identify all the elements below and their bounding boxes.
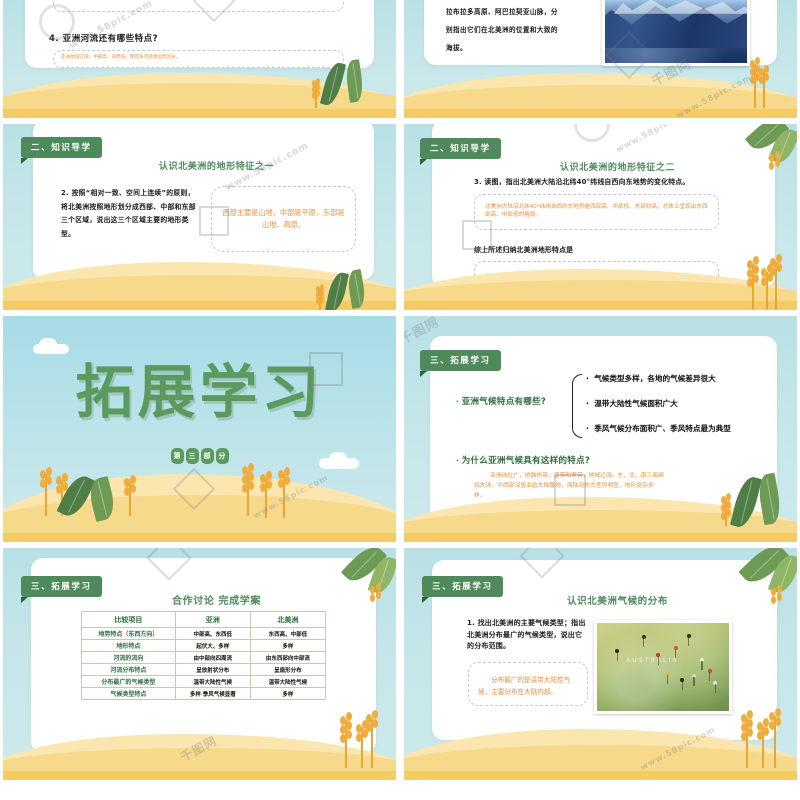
table-header-asia: 亚洲 — [175, 612, 250, 628]
brace-connector — [572, 374, 582, 438]
slide-title: 认识北美洲的地形特征之二 — [464, 160, 771, 173]
row-namerica: 多样 — [250, 688, 325, 700]
section-tag: 二、知识导学 — [420, 138, 501, 159]
description-line-3: 别指出它们在北美洲的位置和大致的 — [446, 24, 558, 34]
section-tag: 三、拓展学习 — [420, 350, 501, 371]
row-namerica: 呈扇形分布 — [250, 664, 325, 676]
slide-thumbnail-4[interactable]: 二、知识导学 认识北美洲的地形特征之二 3. 读图，指出北美洲大陆沿北纬40°纬… — [404, 124, 797, 310]
row-asia: 由中部向四周流 — [175, 652, 250, 664]
row-namerica: 东西高、中部低 — [250, 628, 325, 640]
wheat-decor-top — [367, 582, 389, 618]
description-line-4: 海拔。 — [446, 42, 467, 52]
question-2-text: 为什么亚洲气候具有这样的特点? — [462, 456, 590, 466]
answer-box: 西部主要是山地，中部是平原，东部是山地、高原。 — [211, 186, 356, 252]
comparison-table: 比较项目 亚洲 北美洲 地势特点（东西方向） 中部高、东西低 东西高、中部低 地… — [81, 611, 326, 700]
map-pin — [674, 646, 678, 650]
photo-inner: AUSTRALIA — [597, 623, 729, 711]
bottom-band — [404, 301, 797, 310]
bottom-band — [3, 109, 396, 118]
question-1-text: 亚洲气候特点有哪些? — [462, 397, 546, 407]
answer-text-1: 北美洲大陆沿北纬40°纬线自西向东地势是西部高、中部低、东部较高，总体上呈现出东… — [485, 203, 708, 220]
table-row: 气候类型特点 多样 季风气候显著 多样 — [82, 688, 326, 700]
photo-label: AUSTRALIA — [626, 658, 679, 664]
subtitle-char-1: 第 — [171, 448, 184, 464]
row-label: 河流分布特点 — [82, 664, 176, 676]
slide-thumbnail-7[interactable]: 三、拓展学习 合作讨论 完成学案 比较项目 亚洲 北美洲 地势特点（东西方向） … — [3, 548, 396, 780]
answer-text: 分布最广的是温带大陆性气候，主要分布在大陆内部。 — [478, 675, 578, 699]
bottom-band — [3, 533, 396, 542]
wheat-decor-bottom — [734, 694, 782, 768]
point-1: · 气候类型多样，各地的气候差异很大 — [586, 373, 716, 384]
table-header-namerica: 北美洲 — [250, 612, 325, 628]
subtitle-char-3: 部 — [201, 448, 214, 464]
slide-thumbnail-8[interactable]: 三、拓展学习 认识北美洲气候的分布 1. 找出北美洲的主要气候类型；指出北美洲分… — [404, 548, 797, 780]
description-line-2: 拉布拉多高原、阿巴拉契亚山脉，分 — [446, 6, 558, 16]
row-label: 地势特点（东西方向） — [82, 628, 176, 640]
table-header-row: 比较项目 亚洲 北美洲 — [82, 612, 326, 628]
wheat-decor-bottom — [333, 696, 379, 768]
point-3-text: 季风气候分布面积广、季风特点最为典型 — [594, 424, 731, 433]
point-1-text: 气候类型多样，各地的气候差异很大 — [594, 374, 716, 383]
slide-thumbnail-2[interactable]: 基山脉、大平原、密西西比河平原、 拉布拉多高原、阿巴拉契亚山脉，分 别指出它们在… — [404, 0, 797, 118]
wheat-decor-top — [768, 584, 790, 618]
section-tag: 二、知识导学 — [21, 137, 102, 158]
row-label: 分布最广的气候类型 — [82, 676, 176, 688]
question-1: · 亚洲气候特点有哪些? — [456, 395, 546, 407]
map-pin — [680, 678, 684, 682]
point-2: · 温带大陆性气候面积广大 — [586, 398, 678, 409]
map-pin — [666, 672, 670, 676]
point-2-text: 温带大陆性气候面积广大 — [594, 399, 678, 408]
wheat-center — [121, 466, 141, 514]
bottom-band — [404, 771, 797, 780]
wheat-decor-right — [746, 50, 772, 108]
photo-blur-overlay — [597, 623, 729, 711]
wheat-decor-top — [766, 150, 788, 184]
section-title: 拓展学习 — [3, 362, 396, 423]
table-row: 分布最广的气候类型 温带大陆性气候 温带大陆性气候 — [82, 676, 326, 688]
bullet-dot-1: · — [586, 374, 594, 383]
wheat-decor — [309, 72, 323, 108]
wheat-right — [233, 448, 299, 514]
map-pin — [708, 669, 712, 673]
row-namerica: 多样 — [250, 640, 325, 652]
answer-box: 分布最广的是温带大陆性气候，主要分布在大陆内部。 — [468, 662, 588, 706]
slide-thumbnail-3[interactable]: 二、知识导学 认识北美洲的地形特征之一 2. 按照“相对一致、空间上连续”的原则… — [3, 124, 396, 310]
answer-box-main: 亚洲地域辽阔，中部高、四周低，使得多河流源远而流长。 — [53, 50, 344, 68]
answer-text-top: 丘陵地区流。 — [61, 0, 336, 3]
question-heading: 4. 亚洲河流还有哪些特点? — [49, 32, 158, 44]
answer-text: 西部主要是山地，中部是平原，东部是山地、高原。 — [219, 207, 348, 231]
question-2: · 为什么亚洲气候具有这样的特点? — [456, 454, 590, 466]
question-text-2: 综上所述归纳北美洲地形特点是 — [474, 244, 573, 254]
cloud-right-puff — [329, 452, 347, 466]
row-asia: 起伏大、多样 — [175, 640, 250, 652]
table-row: 地形特点 起伏大、多样 多样 — [82, 640, 326, 652]
photo-inner — [605, 0, 747, 63]
table-row: 河流的流向 由中部向四周流 由东西部向中部流 — [82, 652, 326, 664]
slide-contact-sheet: 丘陵地区流。 4. 亚洲河流还有哪些特点? 亚洲地域辽阔，中部高、四周低，使得多… — [0, 0, 800, 800]
mountain-range-photo — [602, 0, 750, 66]
slide-thumbnail-5[interactable]: 拓展学习 第 三 部 分 — [3, 316, 396, 542]
row-namerica: 温带大陆性气候 — [250, 676, 325, 688]
subtitle-char-2: 三 — [186, 448, 199, 464]
answer-text-main: 亚洲地域辽阔，中部高、四周低，使得多河流源远而流长。 — [61, 55, 336, 62]
row-asia: 温带大陆性气候 — [175, 676, 250, 688]
bottom-band — [404, 533, 797, 542]
wheat-decor — [313, 280, 327, 310]
cloud-left-puff — [39, 338, 57, 352]
table-header-item: 比较项目 — [82, 612, 176, 628]
answer-box-1: 北美洲大陆沿北纬40°纬线自西向东地势是西部高、中部低、东部较高，总体上呈现出东… — [474, 194, 719, 230]
wheat-decor-bottom — [742, 242, 782, 310]
row-label: 地形特点 — [82, 640, 176, 652]
bullet-dot-3: · — [586, 424, 594, 433]
bottom-band — [3, 771, 396, 780]
row-label: 河流的流向 — [82, 652, 176, 664]
wheat-decor — [718, 488, 734, 526]
slide-thumbnail-1[interactable]: 丘陵地区流。 4. 亚洲河流还有哪些特点? 亚洲地域辽阔，中部高、四周低，使得多… — [3, 0, 396, 118]
row-asia: 中部高、东西低 — [175, 628, 250, 640]
row-label: 气候类型特点 — [82, 688, 176, 700]
row-asia: 呈放射状分布 — [175, 664, 250, 676]
slide-thumbnail-6[interactable]: 三、拓展学习 · 亚洲气候特点有哪些? · 气候类型多样，各地的气候差异很大 ·… — [404, 316, 797, 542]
table-row: 河流分布特点 呈放射状分布 呈扇形分布 — [82, 664, 326, 676]
row-namerica: 由东西部向中部流 — [250, 652, 325, 664]
row-asia: 多样 季风气候显著 — [175, 688, 250, 700]
question-text: 3. 读图，指出北美洲大陆沿北纬40°纬线自西向东地势的变化特点。 — [474, 176, 767, 186]
table-row: 地势特点（东西方向） 中部高、东西低 东西高、中部低 — [82, 628, 326, 640]
map-pin — [687, 634, 691, 638]
subtitle-char-4: 分 — [216, 448, 229, 464]
slide-title: 合作讨论 完成学案 — [63, 592, 370, 607]
point-3: · 季风气候分布面积广、季风特点最为典型 — [586, 423, 731, 434]
pinned-map-photo: AUSTRALIA — [594, 620, 732, 714]
question-text: 2. 按照“相对一致、空间上连续”的原则，将北美洲按照地形划分成西部、中部和东部… — [61, 187, 201, 241]
question-text: 1. 找出北美洲的主要气候类型；指出北美洲分布最广的气候类型，说出它的分布范围。 — [467, 618, 589, 653]
slide-title: 认识北美洲气候的分布 — [464, 593, 771, 607]
slide-grid: 丘陵地区流。 4. 亚洲河流还有哪些特点? 亚洲地域辽阔，中部高、四周低，使得多… — [0, 0, 800, 800]
bullet-dot-2: · — [586, 399, 594, 408]
section-subtitle: 第 三 部 分 — [171, 448, 229, 464]
bottom-band — [404, 109, 797, 118]
slide-title: 认识北美洲的地形特征之一 — [63, 159, 370, 172]
answer-box-top: 丘陵地区流。 — [53, 0, 344, 12]
